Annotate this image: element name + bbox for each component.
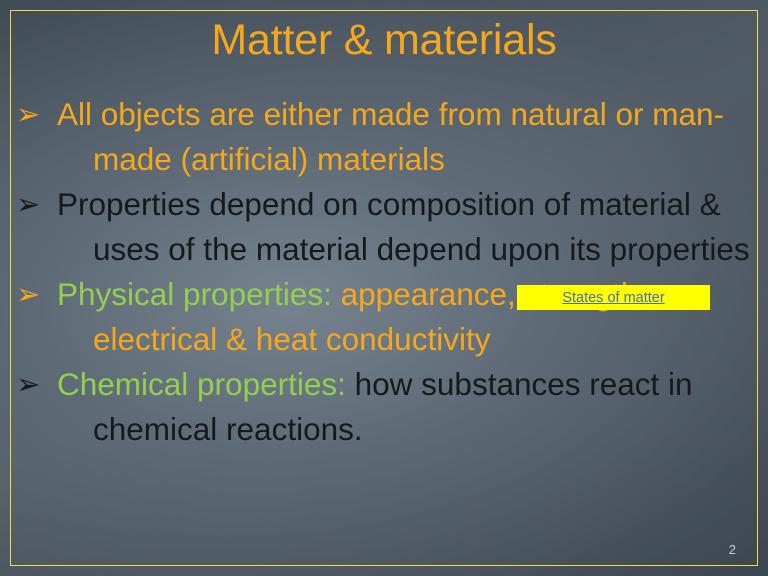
page-title: Matter & materials [0,14,768,66]
list-item-text: Chemical properties: how substances reac… [57,362,756,452]
list-item: ➢ All objects are either made from natur… [14,92,756,182]
states-of-matter-link[interactable]: States of matter [562,290,664,306]
list-item-segment-label: Physical properties: [57,276,341,312]
arrow-bullet-icon: ➢ [16,272,40,317]
list-item: ➢ Chemical properties: how substances re… [14,362,756,452]
list-item-segment-label: Chemical properties: [57,366,355,402]
list-item-segment: All objects are either made from natural… [57,96,724,177]
arrow-bullet-icon: ➢ [16,92,40,137]
list-item-text: All objects are either made from natural… [57,92,756,182]
list-item-text: Properties depend on composition of mate… [57,182,756,272]
bullet-list: ➢ All objects are either made from natur… [14,92,756,452]
page-number: 2 [729,542,736,558]
list-item-segment: Properties depend on composition of mate… [57,186,750,267]
arrow-bullet-icon: ➢ [16,362,40,407]
states-of-matter-link-box[interactable]: States of matter [517,285,710,310]
arrow-bullet-icon: ➢ [16,182,40,227]
presentation-slide: Matter & materials ➢ All objects are eit… [0,0,768,576]
list-item: ➢ Properties depend on composition of ma… [14,182,756,272]
